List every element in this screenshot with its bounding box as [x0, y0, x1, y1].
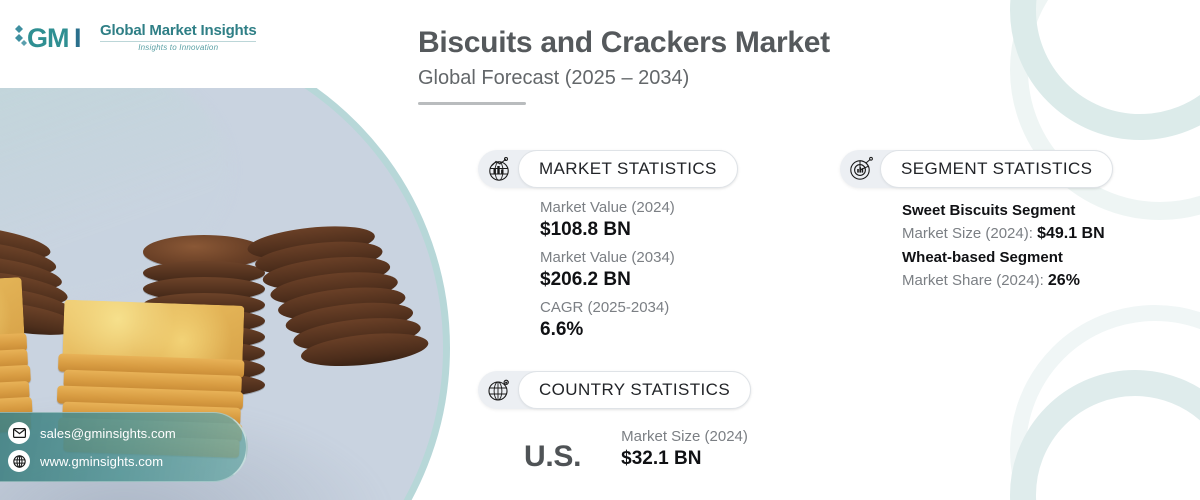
segment-statistics-badge[interactable]: SEGMENT STATISTICS — [840, 150, 1113, 188]
contact-panel: sales@gminsights.com www.gminsights.com — [0, 412, 248, 482]
cagr-label: CAGR (2025-2034) — [540, 298, 738, 318]
segment-statistics-label: SEGMENT STATISTICS — [880, 150, 1113, 188]
contact-website-text: www.gminsights.com — [40, 454, 163, 469]
wheat-based-segment-heading: Wheat-based Segment — [902, 247, 1113, 269]
svg-text:I: I — [74, 23, 82, 53]
sweet-biscuits-segment-line: Market Size (2024): $49.1 BN — [902, 222, 1113, 245]
envelope-icon — [8, 422, 30, 444]
donut-chart-icon — [844, 152, 878, 186]
market-value-2034-label: Market Value (2034) — [540, 248, 738, 268]
decorative-arc-bottom-right-outer — [1010, 305, 1200, 500]
market-value-2024-value: $108.8 BN — [540, 218, 738, 243]
globe-pin-icon — [482, 373, 516, 407]
brand-name: Global Market Insights — [100, 23, 256, 38]
page-title: Biscuits and Crackers Market — [418, 26, 830, 61]
market-statistics-label: MARKET STATISTICS — [518, 150, 738, 188]
svg-text:G: G — [27, 23, 48, 53]
country-name: U.S. — [524, 442, 581, 472]
market-value-2034-value: $206.2 BN — [540, 268, 738, 293]
sweet-biscuits-segment-label: Market Size (2024): — [902, 225, 1037, 242]
market-value-2024-label: Market Value (2024) — [540, 198, 738, 218]
market-statistics-block: MARKET STATISTICS Market Value (2024) $1… — [478, 150, 738, 348]
brand-logo[interactable]: G M I Global Market Insights Insights to… — [12, 20, 256, 54]
country-statistics-row: U.S. Market Size (2024) $32.1 BN — [478, 427, 751, 472]
country-statistics-block: COUNTRY STATISTICS U.S. Market Size (202… — [478, 371, 751, 472]
decorative-arc-bottom-right-inner — [1010, 370, 1200, 500]
globe-icon — [8, 450, 30, 472]
segment-statistics-block: SEGMENT STATISTICS Sweet Biscuits Segmen… — [840, 150, 1113, 294]
country-statistics-badge[interactable]: COUNTRY STATISTICS — [478, 371, 751, 409]
segment-statistics-list: Sweet Biscuits Segment Market Size (2024… — [840, 200, 1113, 292]
contact-email-text: sales@gminsights.com — [40, 426, 176, 441]
sweet-biscuits-segment-value: $49.1 BN — [1037, 225, 1105, 242]
gmi-logo-mark-icon: G M I — [12, 20, 94, 54]
title-divider — [418, 102, 526, 105]
contact-email-row[interactable]: sales@gminsights.com — [8, 422, 246, 444]
svg-text:M: M — [47, 23, 70, 53]
infographic-canvas: sales@gminsights.com www.gminsights.com — [0, 0, 1200, 500]
wheat-based-segment-value: 26% — [1048, 272, 1080, 289]
brand-logo-text: Global Market Insights Insights to Innov… — [100, 23, 256, 52]
page-subtitle: Global Forecast (2025 – 2034) — [418, 67, 830, 90]
country-market-size-value: $32.1 BN — [621, 447, 748, 472]
sweet-biscuits-segment-heading: Sweet Biscuits Segment — [902, 200, 1113, 222]
country-market-size-label: Market Size (2024) — [621, 427, 748, 447]
decorative-arc-top-right-inner — [1010, 0, 1200, 140]
country-market-size: Market Size (2024) $32.1 BN — [621, 427, 748, 472]
market-statistics-badge[interactable]: MARKET STATISTICS — [478, 150, 738, 188]
country-statistics-label: COUNTRY STATISTICS — [518, 371, 751, 409]
page-title-block: Biscuits and Crackers Market Global Fore… — [418, 26, 830, 105]
market-statistics-list: Market Value (2024) $108.8 BN Market Val… — [478, 198, 738, 343]
chocolate-biscuit-fan-right — [246, 217, 438, 454]
globe-bar-chart-icon — [482, 152, 516, 186]
brand-tagline: Insights to Innovation — [100, 44, 256, 52]
brand-logo-divider — [100, 41, 256, 42]
contact-website-row[interactable]: www.gminsights.com — [8, 450, 246, 472]
wheat-based-segment-label: Market Share (2024): — [902, 272, 1048, 289]
cagr-value: 6.6% — [540, 318, 738, 343]
wheat-based-segment-line: Market Share (2024): 26% — [902, 269, 1113, 292]
